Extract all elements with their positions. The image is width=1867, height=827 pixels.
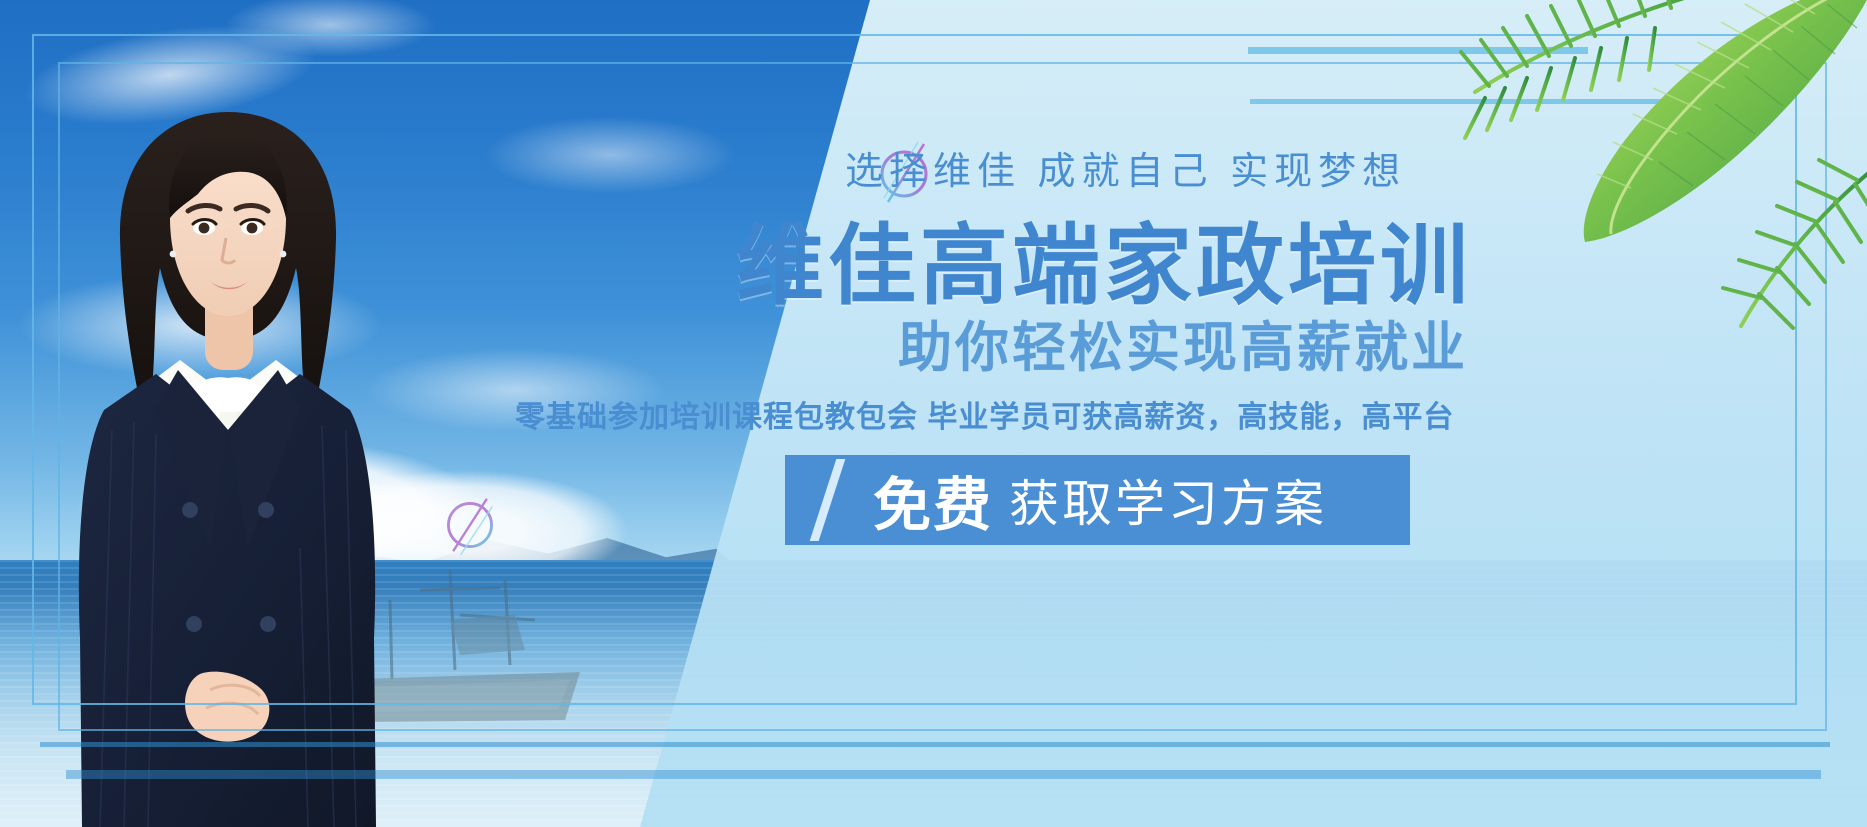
banner-description: 零基础参加培训课程包教包会 毕业学员可获高薪资，高技能，高平台 bbox=[515, 392, 1454, 436]
banner-tagline: 选择维佳 成就自己 实现梦想 bbox=[845, 140, 1406, 195]
slash-accent-icon bbox=[817, 455, 843, 545]
cta-button[interactable]: 免费 获取学习方案 bbox=[785, 455, 1410, 545]
promo-banner: 选择维佳 成就自己 实现梦想 维佳高端家政培训 助你轻松实现高薪就业 零基础参加… bbox=[0, 0, 1867, 827]
woman-portrait-image bbox=[60, 78, 400, 827]
banner-subheadline: 助你轻松实现高薪就业 bbox=[898, 303, 1468, 382]
banner-content: 选择维佳 成就自己 实现梦想 维佳高端家政培训 助你轻松实现高薪就业 零基础参加… bbox=[500, 0, 1860, 827]
cta-label: 获取学习方案 bbox=[1009, 464, 1327, 536]
cta-emphasis-label: 免费 bbox=[873, 458, 993, 542]
